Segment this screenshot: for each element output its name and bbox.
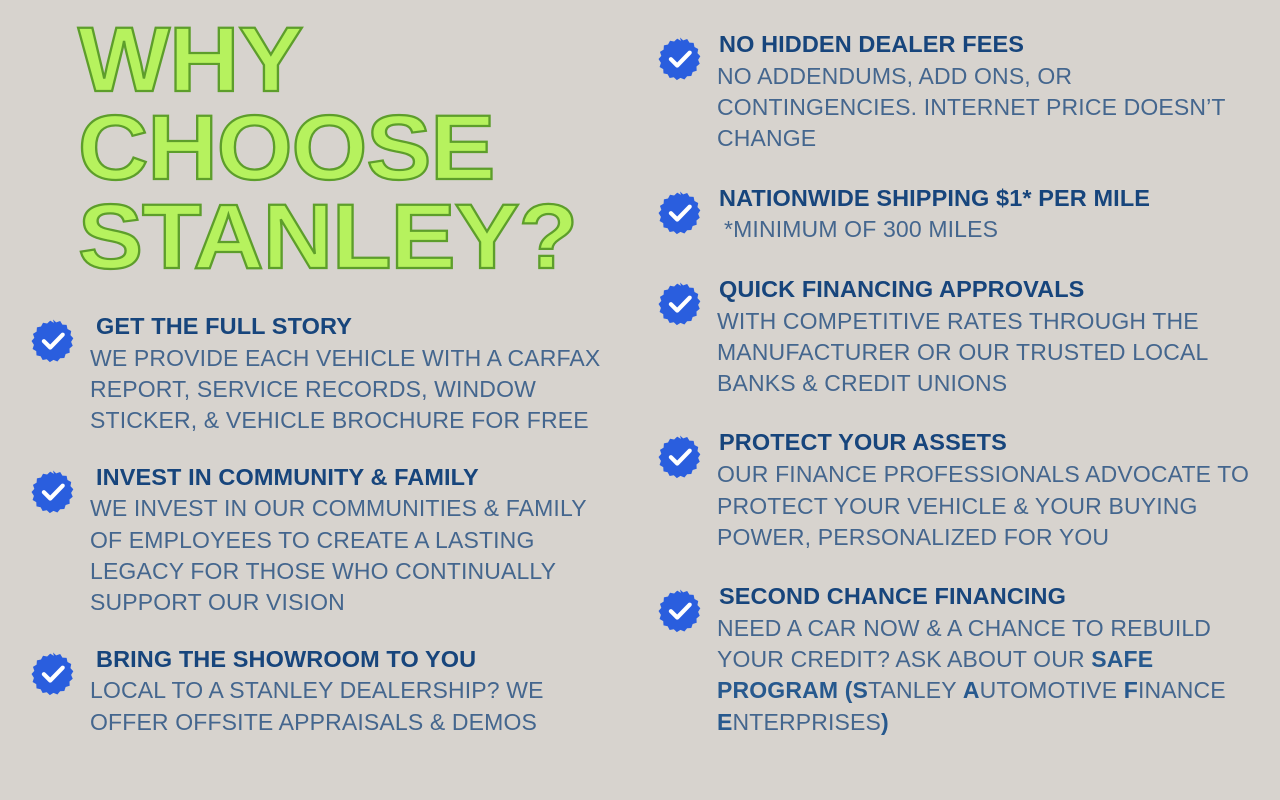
check-badge-icon [657, 36, 703, 82]
feature-body: *MINIMUM OF 300 MILES [717, 214, 1257, 245]
feature-body: LOCAL TO A STANLEY DEALERSHIP? WE OFFER … [90, 675, 610, 738]
acronym-letter-a: A [963, 677, 980, 703]
check-badge-icon [30, 469, 76, 515]
check-badge-icon [657, 588, 703, 634]
acronym-close-paren: ) [881, 709, 889, 735]
feature-title: NATIONWIDE SHIPPING $1* PER MILE [719, 184, 1257, 214]
feature-body: WITH COMPETITIVE RATES THROUGH THE MANUF… [717, 306, 1257, 400]
acronym-letter-e: E [717, 709, 733, 735]
acronym-word-enterprises: NTERPRISES [733, 709, 881, 735]
headline-line-1: WHY [78, 16, 629, 104]
check-badge-icon [30, 651, 76, 697]
feature-title: SECOND CHANCE FINANCING [719, 582, 1257, 612]
feature-title: BRING THE SHOWROOM TO YOU [96, 645, 610, 675]
check-badge-icon [657, 190, 703, 236]
features-left-column: GET THE FULL STORY WE PROVIDE EACH VEHIC… [30, 312, 610, 764]
acronym-word-stanley: TANLEY [868, 677, 963, 703]
acronym-word-finance: INANCE [1138, 677, 1226, 703]
check-badge-icon [657, 434, 703, 480]
feature-protect-your-assets: PROTECT YOUR ASSETS OUR FINANCE PROFESSI… [657, 428, 1257, 553]
feature-title: INVEST IN COMMUNITY & FAMILY [96, 463, 610, 493]
feature-quick-financing-approvals: QUICK FINANCING APPROVALS WITH COMPETITI… [657, 275, 1257, 400]
check-badge-icon [657, 281, 703, 327]
acronym-letter-s: S [853, 677, 869, 703]
why-choose-stanley-poster: WHY CHOOSE STANLEY? GET THE FULL STORY W… [0, 0, 1280, 800]
feature-body: NO ADDENDUMS, ADD ONS, OR CONTINGENCIES.… [717, 61, 1257, 155]
feature-no-hidden-dealer-fees: NO HIDDEN DEALER FEES NO ADDENDUMS, ADD … [657, 30, 1257, 155]
feature-title: PROTECT YOUR ASSETS [719, 428, 1257, 458]
headline-line-3: STANLEY? [78, 193, 629, 281]
feature-get-the-full-story: GET THE FULL STORY WE PROVIDE EACH VEHIC… [30, 312, 610, 437]
feature-nationwide-shipping: NATIONWIDE SHIPPING $1* PER MILE *MINIMU… [657, 184, 1257, 246]
feature-body-footnote: *MINIMUM OF 300 MILES [724, 214, 1257, 245]
acronym-word-automotive: UTOMOTIVE [980, 677, 1124, 703]
features-right-column: NO HIDDEN DEALER FEES NO ADDENDUMS, ADD … [657, 30, 1257, 767]
feature-bring-the-showroom-to-you: BRING THE SHOWROOM TO YOU LOCAL TO A STA… [30, 645, 610, 738]
check-badge-icon [30, 318, 76, 364]
feature-body: NEED A CAR NOW & A CHANCE TO REBUILD YOU… [717, 613, 1257, 738]
feature-invest-in-community-family: INVEST IN COMMUNITY & FAMILY WE INVEST I… [30, 463, 610, 619]
page-title: WHY CHOOSE STANLEY? [78, 16, 598, 281]
feature-body: OUR FINANCE PROFESSIONALS ADVOCATE TO PR… [717, 459, 1257, 553]
feature-body: WE PROVIDE EACH VEHICLE WITH A CARFAX RE… [90, 343, 610, 437]
acronym-letter-f: F [1124, 677, 1138, 703]
feature-title: GET THE FULL STORY [96, 312, 610, 342]
feature-body: WE INVEST IN OUR COMMUNITIES & FAMILY OF… [90, 493, 610, 618]
feature-title: NO HIDDEN DEALER FEES [719, 30, 1257, 60]
feature-title: QUICK FINANCING APPROVALS [719, 275, 1257, 305]
feature-second-chance-financing: SECOND CHANCE FINANCING NEED A CAR NOW &… [657, 582, 1257, 738]
headline-line-2: CHOOSE [78, 104, 629, 192]
